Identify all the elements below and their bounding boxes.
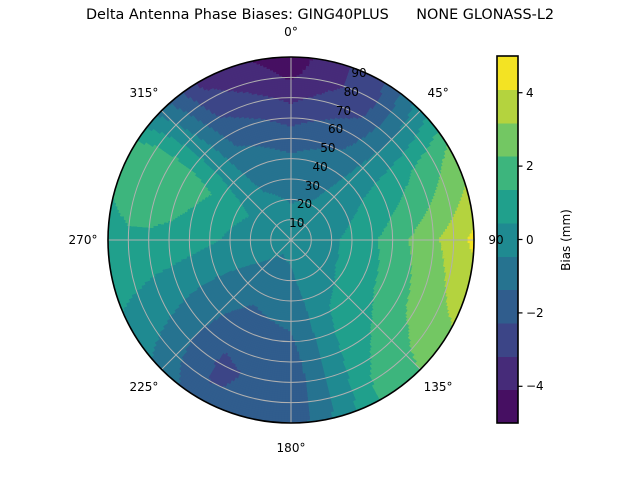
colorbar-tick-label-3: −2 <box>526 306 544 320</box>
colorbar-tick-label-0: 4 <box>526 86 534 100</box>
radial-edge-tick-label: 90 <box>488 233 503 247</box>
angular-tick-label-45: 45° <box>427 86 448 100</box>
radial-tick-label-20: 20 <box>297 197 312 211</box>
colorbar-tick-label-1: 2 <box>526 159 534 173</box>
radial-tick-label-30: 30 <box>305 179 320 193</box>
radial-tick-label-40: 40 <box>312 160 327 174</box>
angular-tick-label-180: 180° <box>277 441 306 455</box>
radial-tick-label-80: 80 <box>344 85 359 99</box>
colorbar-axis-label: Bias (mm) <box>559 209 573 271</box>
radial-tick-label-90: 90 <box>351 66 366 80</box>
radial-tick-label-50: 50 <box>320 141 335 155</box>
angular-tick-label-0: 0° <box>284 25 298 39</box>
angular-tick-label-135: 135° <box>424 380 453 394</box>
radial-tick-label-10: 10 <box>289 216 304 230</box>
angular-tick-label-225: 225° <box>129 380 158 394</box>
radial-tick-label-70: 70 <box>336 104 351 118</box>
colorbar-tick-label-4: −4 <box>526 379 544 393</box>
figure-canvas: Delta Antenna Phase Biases: GING40PLUS N… <box>0 0 640 480</box>
angular-tick-label-270: 270° <box>69 233 98 247</box>
colorbar-tick-label-2: 0 <box>526 233 534 247</box>
radial-tick-label-60: 60 <box>328 122 343 136</box>
angular-tick-label-315: 315° <box>129 86 158 100</box>
